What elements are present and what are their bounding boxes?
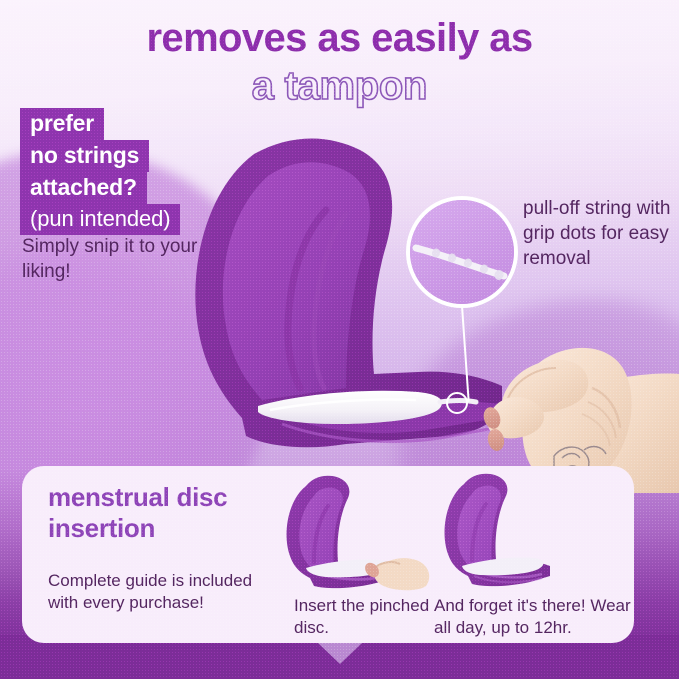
chevron-down-icon (318, 643, 362, 664)
string-callout-text: pull-off string with grip dots for easy … (523, 196, 673, 271)
card-title: menstrual disc insertion (48, 482, 298, 543)
infographic-canvas: removes as easily as a tampon prefer no … (0, 0, 679, 679)
step-1-caption: Insert the pinched disc. (294, 595, 444, 639)
pull-quote-line-1: prefer (20, 108, 104, 140)
pull-quote-subcopy: Simply snip it to your liking! (22, 234, 242, 284)
card-body-text: Complete guide is included with every pu… (48, 570, 264, 615)
magnifier-circle-icon (406, 196, 518, 308)
headline-line-2-outlined: a tampon (0, 66, 679, 106)
step-2-illustration (434, 472, 564, 592)
pull-quote-block: prefer no strings attached? (pun intende… (20, 108, 270, 235)
headline-line-1: removes as easily as (0, 18, 679, 58)
headline: removes as easily as a tampon (0, 18, 679, 106)
pull-quote-line-3: attached? (20, 172, 147, 204)
step-2-caption: And forget it's there! Wear all day, up … (434, 595, 634, 639)
insertion-guide-card: menstrual disc insertion Complete guide … (22, 466, 634, 643)
magnifier-target-ring (446, 392, 468, 414)
step-1-illustration (280, 472, 432, 592)
pull-quote-line-2: no strings (20, 140, 149, 172)
pull-quote-line-4: (pun intended) (20, 204, 180, 235)
